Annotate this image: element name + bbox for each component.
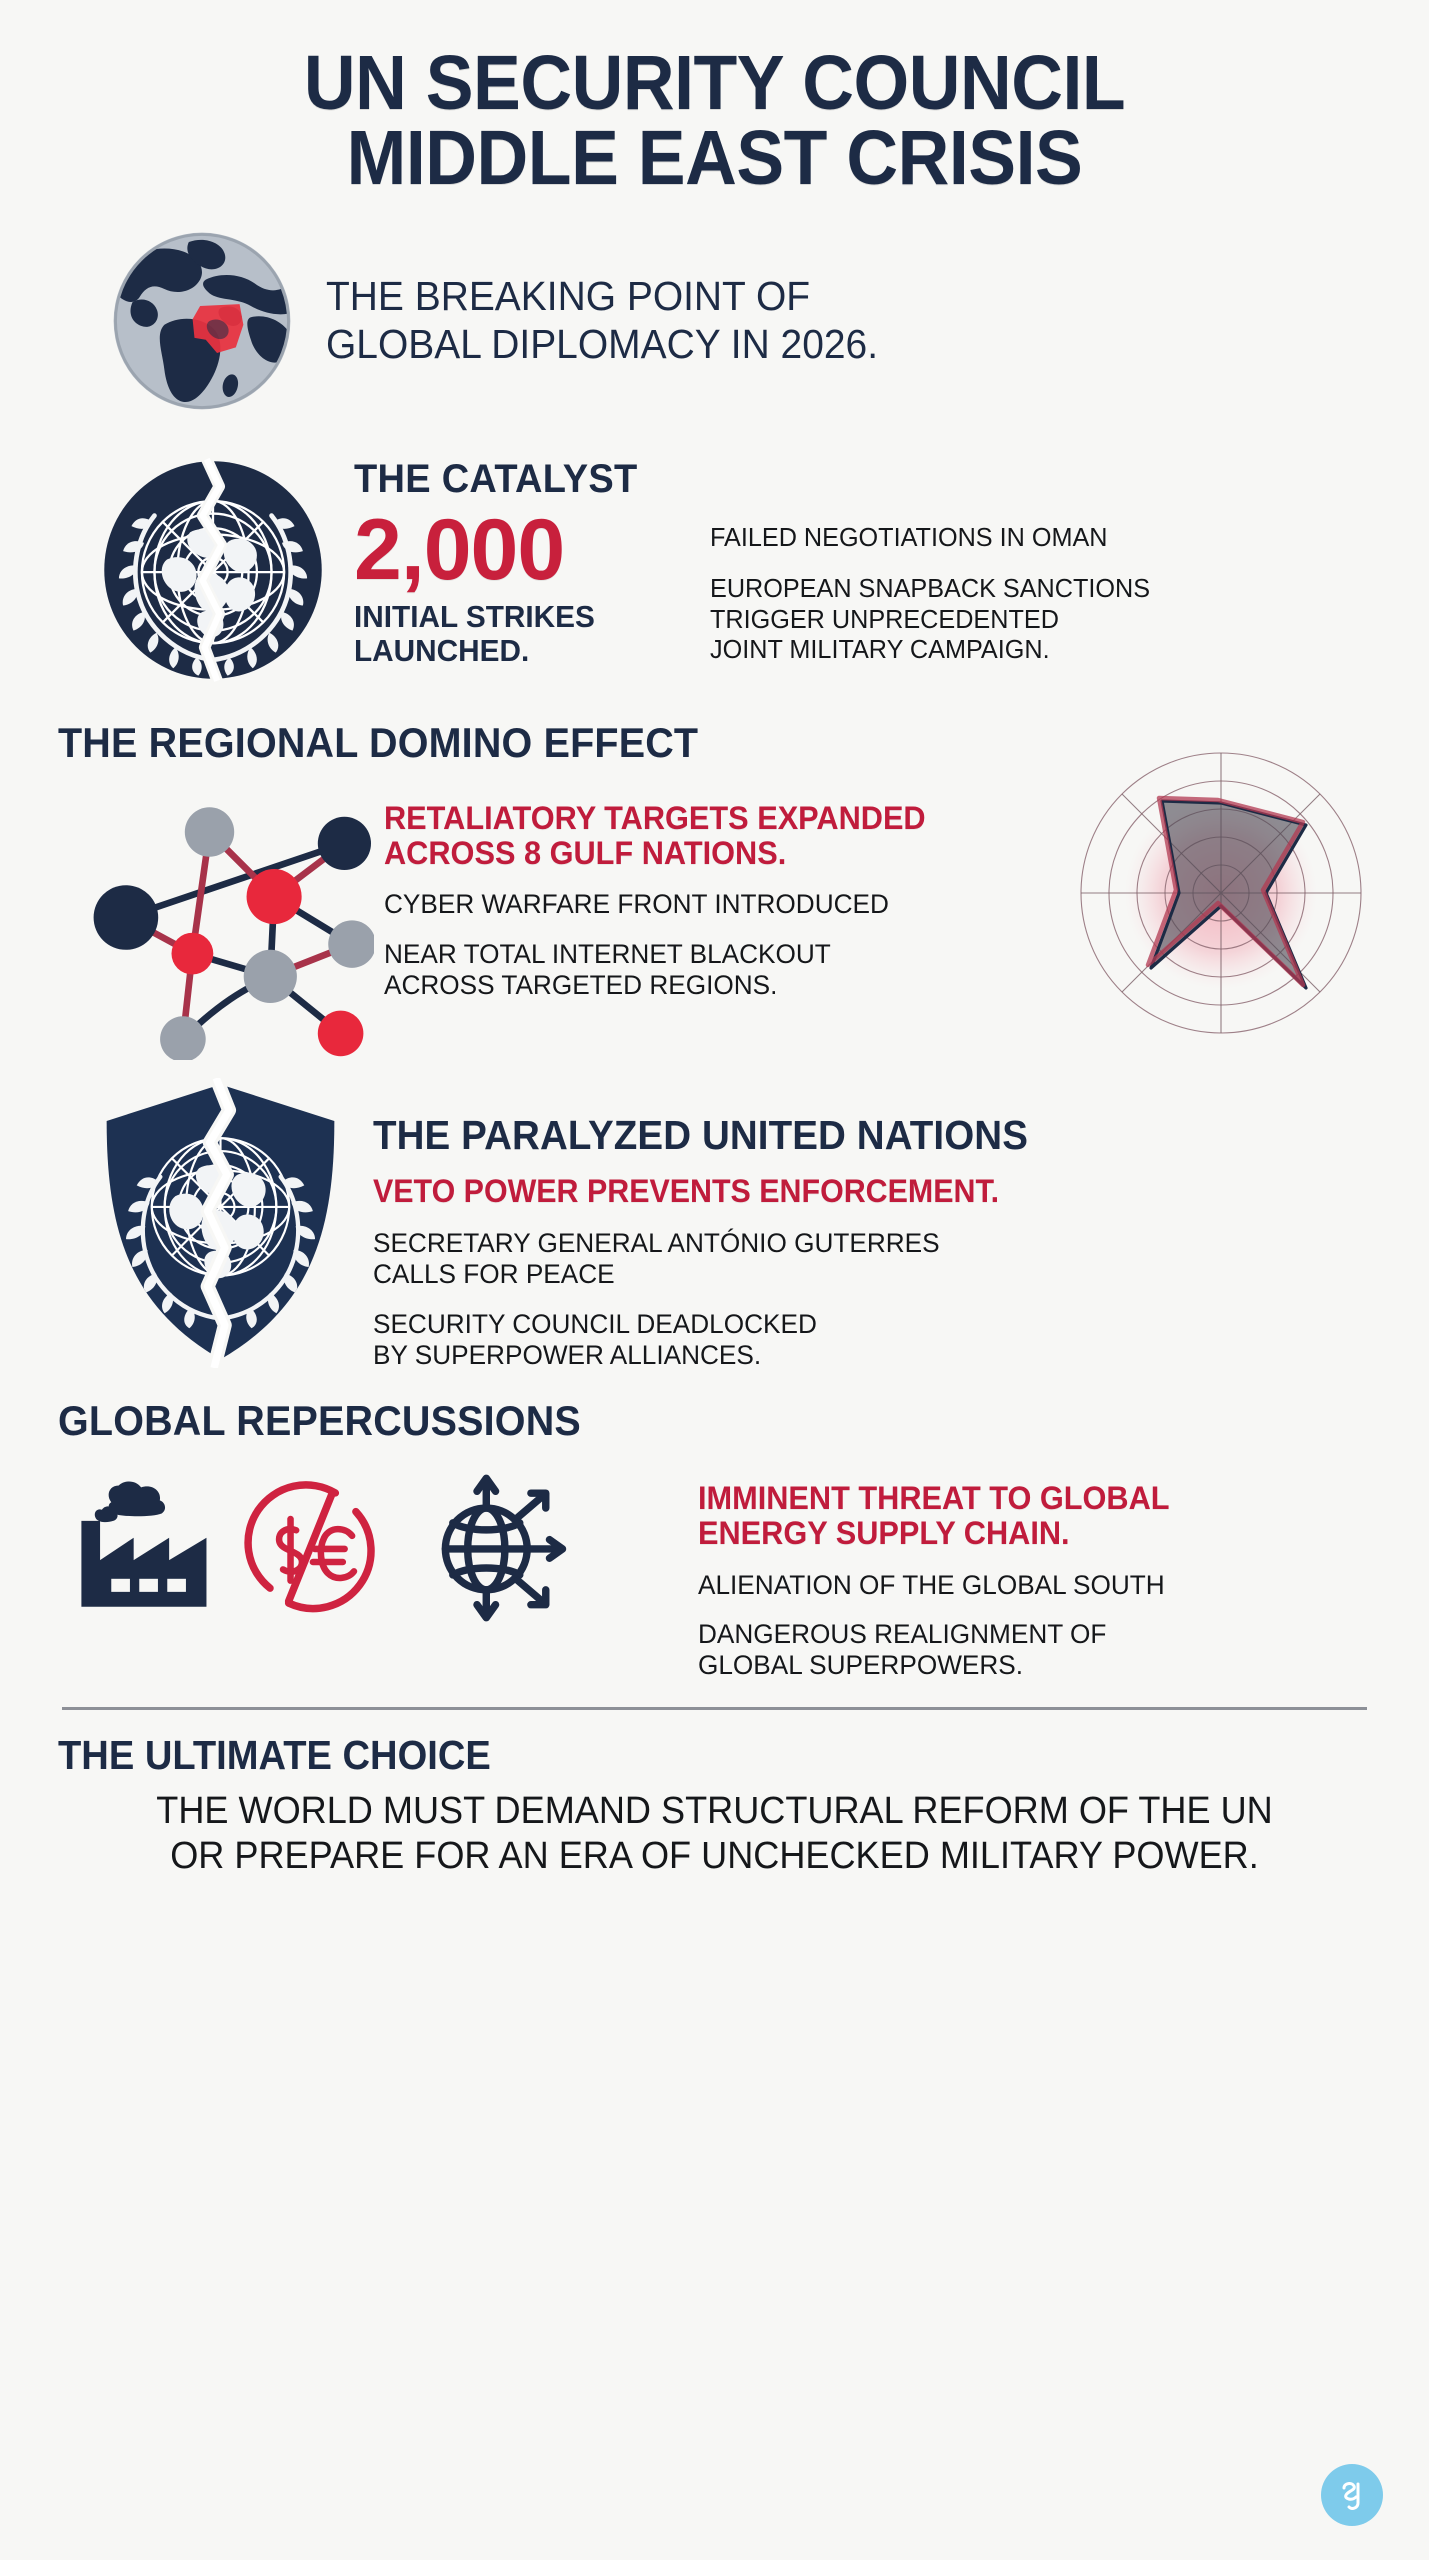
cracked-un-emblem-icon — [98, 455, 328, 685]
title-line-2: MIDDLE EAST CRISIS — [104, 121, 1325, 196]
repercussions-heading: GLOBAL REPERCUSSIONS — [58, 1397, 1292, 1445]
repercussions-section: GLOBAL REPERCUSSIONS — [58, 1397, 1371, 1681]
domino-lead-line-1: RETALIATORY TARGETS EXPANDED — [384, 801, 1070, 836]
final-line-1: THE WORLD MUST DEMAND STRUCTURAL REFORM … — [91, 1789, 1338, 1833]
paralyzed-body-2-line-2: BY SUPERPOWER ALLIANCES. — [373, 1340, 1341, 1371]
paralyzed-heading: THE PARALYZED UNITED NATIONS — [373, 1112, 1311, 1159]
repercussions-red-line-2: ENERGY SUPPLY CHAIN. — [698, 1516, 1344, 1551]
catalyst-stat: 2,000 INITIAL STRIKES LAUNCHED. — [354, 510, 684, 669]
title-line-1: UN SECURITY COUNCIL — [104, 46, 1325, 121]
paralyzed-body-1: SECRETARY GENERAL ANTÓNIO GUTERRES CALLS… — [373, 1228, 1341, 1291]
paralyzed-body: THE PARALYZED UNITED NATIONS VETO POWER … — [373, 1078, 1371, 1371]
catalyst-body: THE CATALYST 2,000 INITIAL STRIKES LAUNC… — [354, 449, 1371, 669]
repercussions-icons — [58, 1459, 698, 1632]
final-line-2: OR PREPARE FOR AN ERA OF UNCHECKED MILIT… — [91, 1834, 1338, 1878]
final-body: THE WORLD MUST DEMAND STRUCTURAL REFORM … — [91, 1789, 1338, 1877]
brand-monogram-icon[interactable] — [1321, 2464, 1383, 2526]
catalyst-heading: THE CATALYST — [354, 457, 1320, 502]
intro-line-1: THE BREAKING POINT OF — [326, 273, 878, 321]
domino-body-2-line-2: ACROSS TARGETED REGIONS. — [384, 970, 1078, 1001]
radar-chart-icon — [1071, 743, 1371, 1043]
network-nodes-icon — [64, 775, 374, 1060]
domino-lead-line-2: ACROSS 8 GULF NATIONS. — [384, 836, 1070, 871]
final-section: THE ULTIMATE CHOICE THE WORLD MUST DEMAN… — [58, 1732, 1371, 1877]
catalyst-fact-1: FAILED NEGOTIATIONS IN OMAN — [710, 522, 1351, 552]
paralyzed-body-2-line-1: SECURITY COUNCIL DEADLOCKED — [373, 1309, 1341, 1340]
stat-label-line-2: LAUNCHED. — [354, 634, 671, 669]
stat-label: INITIAL STRIKES LAUNCHED. — [354, 600, 671, 669]
domino-text: RETALIATORY TARGETS EXPANDED ACROSS 8 GU… — [374, 775, 1099, 1001]
paralyzed-body-1-line-1: SECRETARY GENERAL ANTÓNIO GUTERRES — [373, 1228, 1341, 1259]
repercussions-body-2-line-1: DANGEROUS REALIGNMENT OF — [698, 1619, 1351, 1650]
infographic-page: UN SECURITY COUNCIL MIDDLE EAST CRISIS — [0, 0, 1429, 2560]
domino-body-1: CYBER WARFARE FRONT INTRODUCED — [384, 889, 1078, 920]
page-title: UN SECURITY COUNCIL MIDDLE EAST CRISIS — [58, 0, 1371, 197]
paralyzed-body-2: SECURITY COUNCIL DEADLOCKED BY SUPERPOWE… — [373, 1309, 1341, 1372]
paralyzed-red-line: VETO POWER PREVENTS ENFORCEMENT. — [373, 1173, 1321, 1210]
domino-body-2: NEAR TOTAL INTERNET BLACKOUT ACROSS TARG… — [384, 939, 1078, 1002]
intro-section: THE BREAKING POINT OF GLOBAL DIPLOMACY I… — [58, 227, 1371, 415]
paralyzed-section: THE PARALYZED UNITED NATIONS VETO POWER … — [58, 1078, 1371, 1371]
repercussions-body-2: DANGEROUS REALIGNMENT OF GLOBAL SUPERPOW… — [698, 1619, 1351, 1682]
repercussions-body-2-line-2: GLOBAL SUPERPOWERS. — [698, 1650, 1351, 1681]
globe-arrows-icon — [406, 1469, 574, 1632]
repercussions-body-1: ALIENATION OF THE GLOBAL SOUTH — [698, 1570, 1351, 1601]
paralyzed-body-1-line-2: CALLS FOR PEACE — [373, 1259, 1341, 1290]
domino-heading: THE REGIONAL DOMINO EFFECT — [58, 719, 1292, 767]
catalyst-fact-2: EUROPEAN SNAPBACK SANCTIONS TRIGGER UNPR… — [710, 573, 1351, 664]
catalyst-section: THE CATALYST 2,000 INITIAL STRIKES LAUNC… — [58, 449, 1371, 685]
intro-text: THE BREAKING POINT OF GLOBAL DIPLOMACY I… — [326, 273, 878, 368]
domino-body-2-line-1: NEAR TOTAL INTERNET BLACKOUT — [384, 939, 1078, 970]
catalyst-facts: FAILED NEGOTIATIONS IN OMAN EUROPEAN SNA… — [710, 510, 1371, 669]
stat-number: 2,000 — [354, 510, 684, 592]
final-heading: THE ULTIMATE CHOICE — [58, 1732, 1279, 1779]
footer-divider — [62, 1707, 1367, 1710]
factory-smokestack-icon — [68, 1478, 218, 1623]
stat-label-line-1: INITIAL STRIKES — [354, 600, 671, 635]
domino-section: THE REGIONAL DOMINO EFFECT — [58, 719, 1371, 1060]
intro-line-2: GLOBAL DIPLOMACY IN 2026. — [326, 321, 878, 369]
globe-middle-east-icon — [108, 227, 296, 415]
currency-crisis-icon — [242, 1478, 382, 1623]
repercussions-text: IMMINENT THREAT TO GLOBAL ENERGY SUPPLY … — [698, 1459, 1371, 1681]
cracked-un-shield-icon — [88, 1078, 353, 1368]
repercussions-red-line-1: IMMINENT THREAT TO GLOBAL — [698, 1481, 1344, 1516]
